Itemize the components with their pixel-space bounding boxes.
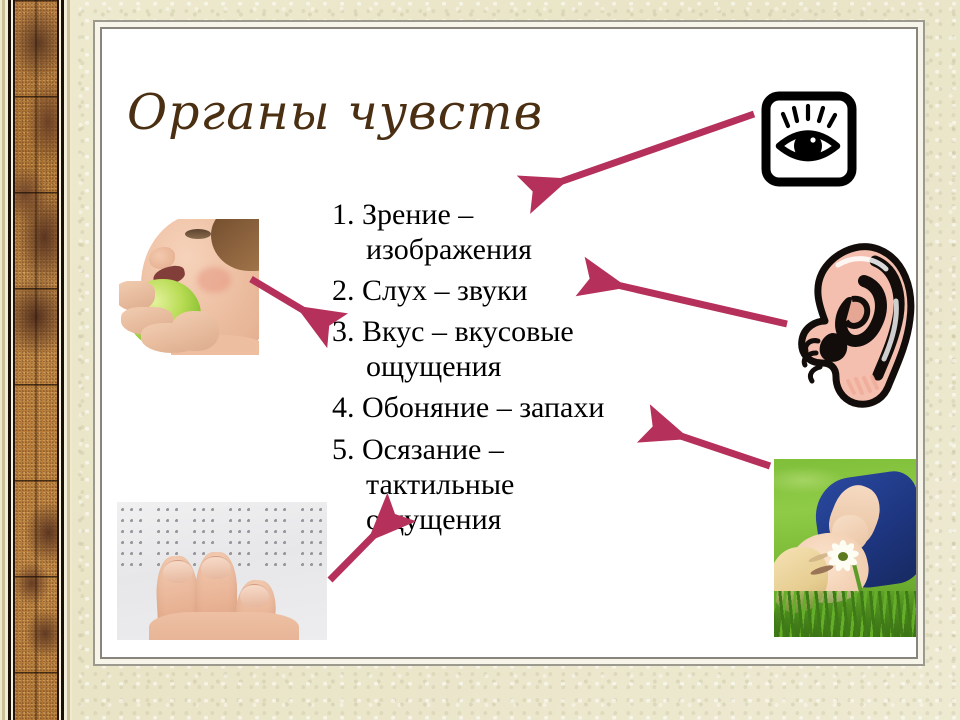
braille-photo xyxy=(117,502,327,640)
list-item: 2. Слух – звуки xyxy=(332,273,662,308)
arrow-eye-to-vision xyxy=(534,114,754,191)
slide: Органы чувств 1. Зрение – изображения 2.… xyxy=(0,0,960,720)
decorative-left-border xyxy=(0,0,72,720)
arrow-flower-to-smell xyxy=(654,427,770,466)
border-edge-trim xyxy=(0,0,72,720)
list-item: 1. Зрение – изображения xyxy=(332,197,662,267)
daisy-center xyxy=(838,552,848,561)
slide-frame-outer: Органы чувств 1. Зрение – изображения 2.… xyxy=(93,20,925,666)
slide-frame-inner: Органы чувств 1. Зрение – изображения 2.… xyxy=(100,27,918,659)
flower-photo xyxy=(774,459,916,637)
senses-list: 1. Зрение – изображения 2. Слух – звуки … xyxy=(332,197,662,543)
list-item: 5. Осязание – тактильные ощущения xyxy=(332,432,662,537)
arrow-apple-to-taste xyxy=(251,279,328,325)
slide-canvas: Органы чувств 1. Зрение – изображения 2.… xyxy=(102,29,916,657)
eye-icon xyxy=(761,91,857,187)
list-item: 4. Обоняние – запахи xyxy=(332,390,662,425)
apple-photo xyxy=(119,219,259,355)
list-item: 3. Вкус – вкусовые ощущения xyxy=(332,314,662,384)
page-title: Органы чувств xyxy=(127,84,543,141)
ear-illustration xyxy=(792,241,916,411)
